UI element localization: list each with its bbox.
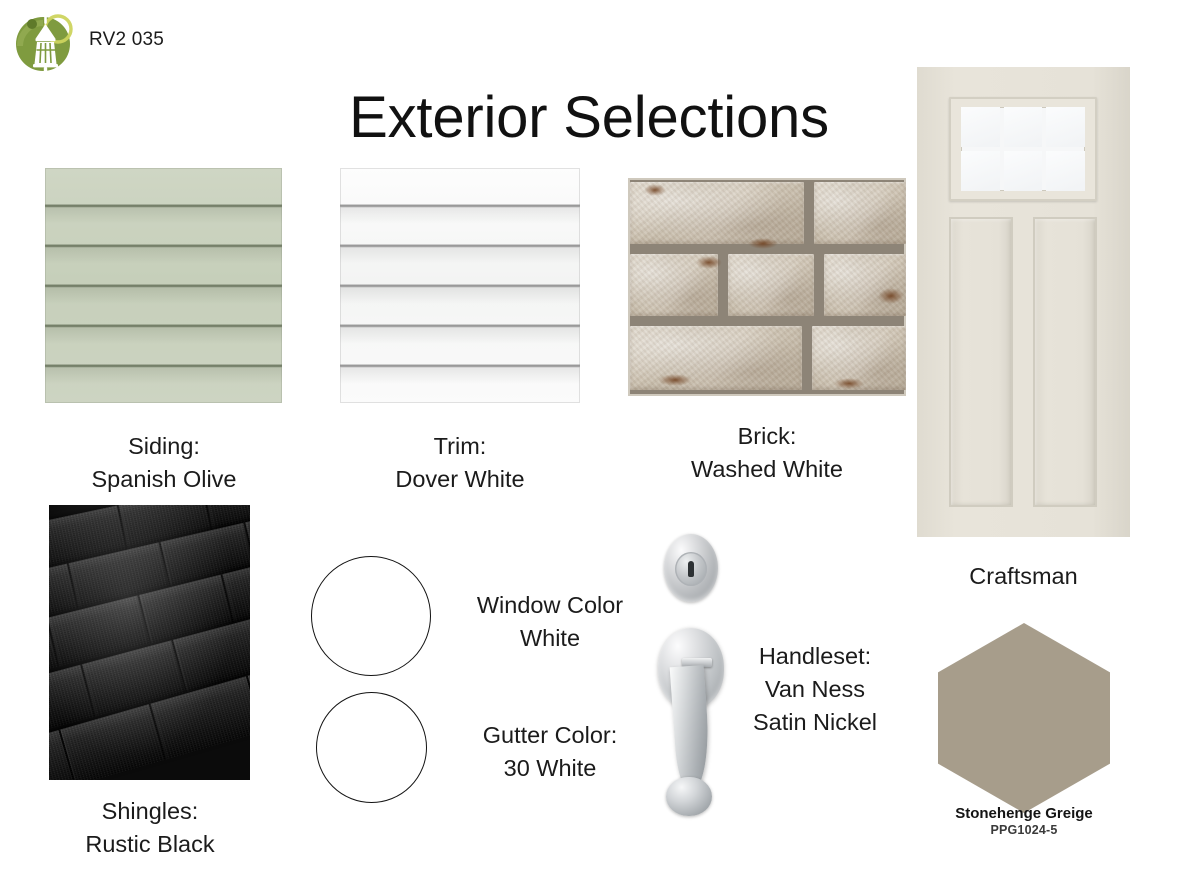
trim-caption: Trim: Dover White xyxy=(340,430,580,496)
shingle-tab xyxy=(170,640,186,693)
door-glass-pane xyxy=(961,107,1000,147)
siding-swatch xyxy=(45,168,282,403)
paint-chip-code: PPG1024-5 xyxy=(938,823,1110,837)
brick-unit xyxy=(814,182,906,244)
brick-burn-mark xyxy=(834,378,864,389)
brick-caption: Brick: Washed White xyxy=(628,420,906,486)
door-window-frame xyxy=(949,97,1097,201)
brick-burn-mark xyxy=(748,238,778,249)
shingle-tab xyxy=(67,563,79,608)
lap-shadow xyxy=(45,248,282,264)
door-glass-pane xyxy=(1004,107,1043,147)
shingle-tab xyxy=(243,522,250,567)
door-glass-pane xyxy=(961,151,1000,191)
door-panel-right xyxy=(1033,217,1097,507)
shingle-tab xyxy=(116,505,128,550)
paint-chip-swatch xyxy=(938,623,1110,813)
shingles-swatch xyxy=(49,505,250,780)
brick-unit xyxy=(824,254,906,316)
brick-burn-mark xyxy=(878,288,904,304)
lap-shadow xyxy=(340,328,580,344)
brick-swatch xyxy=(628,178,906,396)
keyhole-icon xyxy=(688,561,694,577)
door-window-glass xyxy=(961,107,1085,191)
door-caption: Craftsman xyxy=(917,560,1130,593)
handleset-caption: Handleset: Van Ness Satin Nickel xyxy=(725,640,905,739)
trim-swatch xyxy=(340,168,580,403)
shingle-tab xyxy=(158,542,170,587)
window-color-caption: Window Color White xyxy=(450,589,650,655)
door-glass-pane xyxy=(1046,107,1085,147)
shingles-caption: Shingles: Rustic Black xyxy=(40,795,260,861)
lap-shadow xyxy=(340,248,580,264)
shingle-tab xyxy=(148,704,166,760)
brick-burn-mark xyxy=(644,184,666,196)
brick-burn-mark xyxy=(658,374,692,386)
lap-shadow xyxy=(45,368,282,384)
paint-chip-hexagon xyxy=(938,623,1110,813)
lap-shadow xyxy=(340,208,580,224)
window-color-swatch xyxy=(311,556,431,676)
shingle-tab xyxy=(246,676,250,732)
gutter-color-swatch xyxy=(316,692,427,803)
shingle-tab xyxy=(201,505,213,532)
lantern-logo-icon xyxy=(10,6,82,76)
shingle-tab xyxy=(80,664,96,717)
shingle-tab xyxy=(221,574,235,623)
lap-shadow xyxy=(45,288,282,304)
front-door-swatch xyxy=(917,67,1130,537)
door-panel-left xyxy=(949,217,1013,507)
brick-unit xyxy=(728,254,814,316)
project-code-label: RV2 035 xyxy=(89,29,164,51)
gutter-color-caption: Gutter Color: 30 White xyxy=(450,719,650,785)
lap-shadow xyxy=(340,368,580,384)
lap-shadow xyxy=(340,288,580,304)
brick-burn-mark xyxy=(696,256,722,269)
shingle-tab xyxy=(49,618,59,667)
paint-chip-name: Stonehenge Greige xyxy=(938,805,1110,822)
siding-caption: Siding: Spanish Olive xyxy=(44,430,284,496)
lap-shadow xyxy=(45,208,282,224)
door-glass-pane xyxy=(1004,151,1043,191)
lap-shadow xyxy=(45,328,282,344)
shingle-tab xyxy=(58,730,76,780)
handle-base-plate xyxy=(666,777,712,816)
brick-unit xyxy=(630,326,802,390)
door-glass-pane xyxy=(1046,151,1085,191)
shingle-tab xyxy=(136,595,150,644)
